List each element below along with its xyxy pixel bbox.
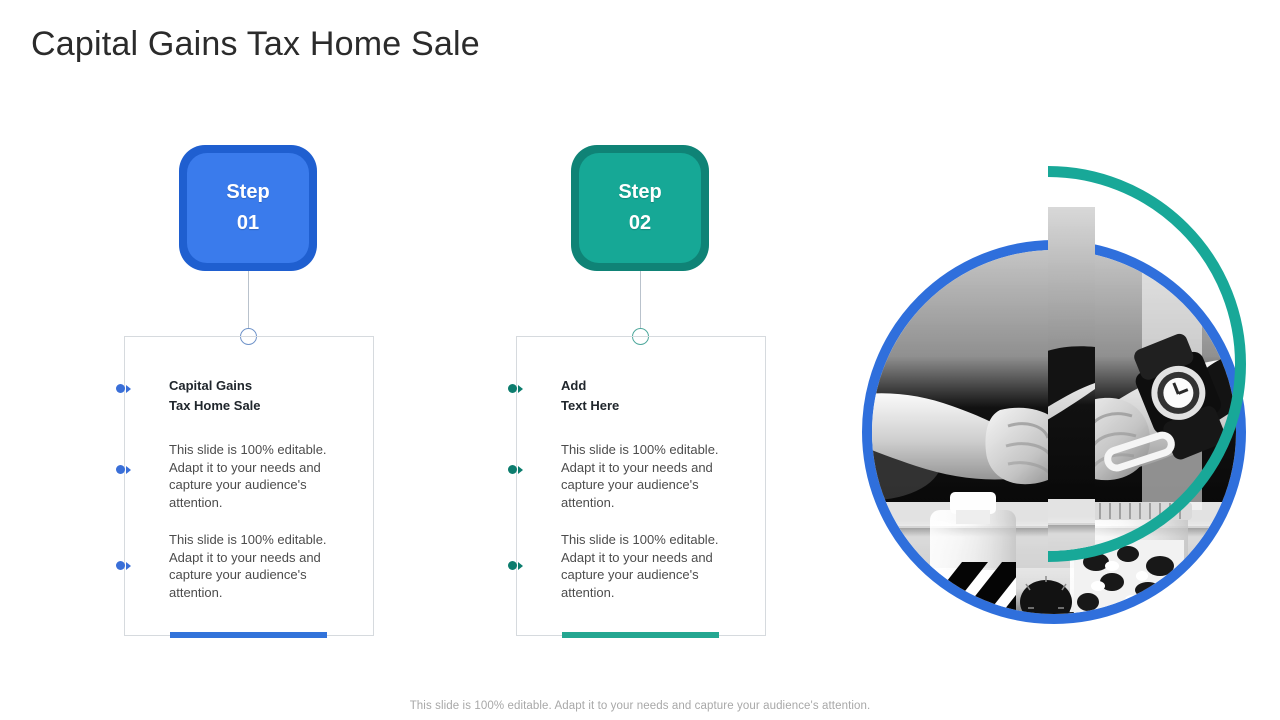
- step-badge-02-inner: Step 02: [579, 153, 701, 263]
- page-title: Capital Gains Tax Home Sale: [31, 22, 480, 66]
- step-card-2-paragraph-1: This slide is 100% editable. Adapt it to…: [561, 441, 737, 511]
- artwork-composition: [845, 150, 1265, 650]
- bullet-dot-icon: [116, 465, 125, 474]
- bullet-marker-icon: [508, 384, 523, 393]
- teal-half-circle: [1048, 166, 1246, 562]
- bullet-dot-icon: [508, 561, 517, 570]
- step-card-2-heading: Add Text Here: [561, 376, 619, 416]
- step-badge-02-label: Step: [618, 177, 661, 208]
- bullet-dot-icon: [116, 384, 125, 393]
- step-badge-01-inner: Step 01: [187, 153, 309, 263]
- slide-canvas: Capital Gains Tax Home Sale Step 01: [0, 0, 1280, 720]
- bullet-dot-icon: [508, 384, 517, 393]
- bullet-arrow-icon: [518, 562, 523, 570]
- step-badge-02-number: 02: [629, 208, 651, 239]
- teal-circle-photo: [1048, 177, 1235, 551]
- bullet-dot-icon: [508, 465, 517, 474]
- step-badge-01-label: Step: [226, 177, 269, 208]
- connector-line-2: [640, 271, 641, 329]
- slide-footer-note: This slide is 100% editable. Adapt it to…: [0, 700, 1280, 712]
- bullet-marker-icon: [508, 465, 523, 474]
- bullet-arrow-icon: [518, 385, 523, 393]
- bullet-marker-icon: [508, 561, 523, 570]
- bullet-arrow-icon: [126, 466, 131, 474]
- step-badge-01-number: 01: [237, 208, 259, 239]
- step-card-1-paragraph-1: This slide is 100% editable. Adapt it to…: [169, 441, 345, 511]
- step-card-1-paragraph-2: This slide is 100% editable. Adapt it to…: [169, 531, 345, 601]
- bullet-dot-icon: [116, 561, 125, 570]
- bullet-marker-icon: [116, 384, 131, 393]
- step-badge-02[interactable]: Step 02: [571, 145, 709, 271]
- bullet-marker-icon: [116, 561, 131, 570]
- bullet-arrow-icon: [126, 562, 131, 570]
- step-card-2-paragraph-2: This slide is 100% editable. Adapt it to…: [561, 531, 737, 601]
- bullet-marker-icon: [116, 465, 131, 474]
- bullet-arrow-icon: [126, 385, 131, 393]
- step-card-2-accent-bar: [562, 632, 719, 638]
- step-card-2[interactable]: Add Text Here This slide is 100% editabl…: [516, 336, 766, 636]
- bullet-arrow-icon: [518, 466, 523, 474]
- step-card-1[interactable]: Capital Gains Tax Home Sale This slide i…: [124, 336, 374, 636]
- connector-line-1: [248, 271, 249, 329]
- step-card-1-accent-bar: [170, 632, 327, 638]
- step-card-1-heading: Capital Gains Tax Home Sale: [169, 376, 261, 416]
- step-badge-01[interactable]: Step 01: [179, 145, 317, 271]
